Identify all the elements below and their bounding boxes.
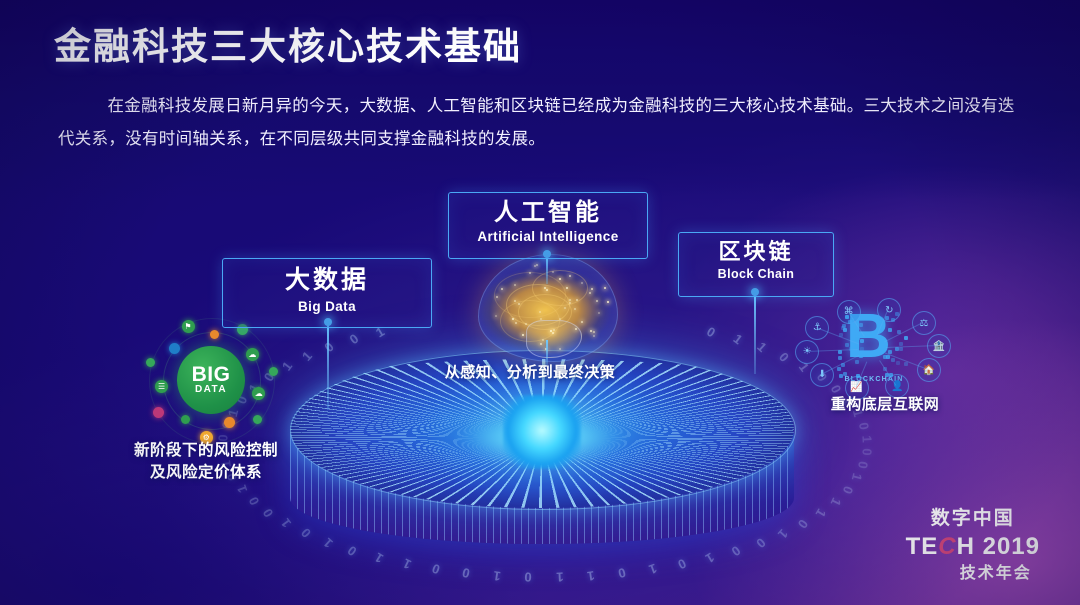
brain-spark [546,289,548,291]
blockchain-node-icon: ⬇ [810,363,834,387]
connector-blockchain [754,292,756,374]
brain-spark [536,264,538,266]
intro-paragraph: 在金融科技发展日新月异的今天，大数据、人工智能和区块链已经成为金融科技的三大核心… [58,90,1023,156]
big-data-graphic: BIG DATA ☁⚙☰⚑☁ [132,318,282,443]
blockchain-pixel [895,312,899,316]
logo-tech-c: C [938,533,956,560]
big-data-node-icon [210,330,219,339]
label-blockchain-en: Block Chain [679,267,833,281]
caption-big-data: 新阶段下的风险控制 及风险定价体系 [96,440,316,485]
brain-spark [501,288,503,290]
slide-canvas: 金融科技三大核心技术基础 在金融科技发展日新月异的今天，大数据、人工智能和区块链… [0,0,1080,605]
label-box-ai[interactable]: 人工智能 Artificial Intelligence [448,192,648,259]
blockchain-graphic: B BLOCKCHAIN ↻⚖🏦🏠👤📈⬇☀⚓⌘ [792,302,952,406]
page-title: 金融科技三大核心技术基础 [54,16,522,70]
blockchain-pixel [859,354,863,358]
blockchain-pixel [883,355,887,359]
blockchain-pixel [885,316,889,320]
big-data-node-icon [224,417,235,428]
blockchain-node-icon: 🏦 [927,334,951,358]
blockchain-pixel [843,372,847,376]
blockchain-pixel [904,362,908,366]
brain-spark [540,343,542,345]
blockchain-pixel [854,345,858,349]
blockchain-pixel [904,336,908,340]
big-data-node-icon: ☁ [246,348,259,361]
brain-spark [564,307,566,309]
label-ai-cn: 人工智能 [449,200,647,226]
blockchain-pixel [849,347,853,351]
blockchain-pixel [897,330,901,334]
big-data-node-icon [169,343,180,354]
blockchain-pixel [841,363,845,367]
blockchain-pixel [886,355,890,359]
blockchain-pixel [896,361,900,365]
blockchain-pixel [860,339,864,343]
blockchain-node-icon: 🏠 [917,358,941,382]
logo-cn-top: 数字中国 [906,503,1040,530]
label-box-blockchain[interactable]: 区块链 Block Chain [678,232,834,297]
blockchain-pixel [885,373,889,377]
blockchain-pixel [891,358,895,362]
logo-cn-bottom: 技术年会 [906,559,1040,583]
brain-spark [514,284,516,286]
big-data-node-icon [269,367,278,376]
brain-fold [532,270,588,306]
brain-spark [522,334,524,336]
caption-blockchain: 重构底层互联网 [790,394,980,416]
label-ai-en: Artificial Intelligence [449,229,647,244]
blockchain-pixel [850,320,854,324]
event-logo: 数字中国 TECH 2019 技术年会 [906,503,1040,583]
blockchain-pixel [839,374,843,378]
brain-spark [589,292,591,294]
blockchain-pixel [859,323,863,327]
brain-spark [590,330,592,332]
blockchain-pixel [838,350,842,354]
blockchain-node-icon: ⚖ [912,311,936,335]
logo-tech-post: H 2019 [957,533,1040,560]
blockchain-pixel [855,332,859,336]
brain-graphic [478,254,618,362]
blockchain-pixel [842,324,846,328]
blockchain-pixel [837,367,841,371]
blockchain-pixel [838,356,842,360]
big-data-node-icon: ⚑ [182,320,195,333]
blockchain-pixel [888,350,892,354]
brain-spark [539,311,541,313]
label-blockchain-cn: 区块链 [679,240,833,264]
blockchain-pixel [860,347,864,351]
blockchain-pixel [891,318,895,322]
blockchain-pixel [839,333,843,337]
label-big-data-en: Big Data [223,299,431,314]
blockchain-pixel [855,360,859,364]
caption-big-data-line2: 及风险定价体系 [96,462,316,484]
brain-spark [515,322,517,324]
brain-spark [569,302,571,304]
label-box-big-data[interactable]: 大数据 Big Data [222,258,432,328]
caption-big-data-line1: 新阶段下的风险控制 [96,440,316,462]
blockchain-pixel [845,315,849,319]
blockchain-pixel [856,374,860,378]
blockchain-pixel [899,347,903,351]
brain-spark [542,339,544,341]
big-data-node-icon [253,415,262,424]
blockchain-pixel [855,337,859,341]
brain-spark [569,275,571,277]
connector-big-data [327,322,329,410]
blockchain-pixel [899,342,903,346]
label-big-data-cn: 大数据 [223,267,431,295]
brain-spark [566,287,568,289]
brain-spark [496,296,498,298]
caption-ai: 从感知、分析到最终决策 [420,362,640,384]
brain-spark [593,335,595,337]
blockchain-pixel [881,320,885,324]
brain-fold [500,300,560,342]
blockchain-pixel [888,328,892,332]
brain-spark [518,303,520,305]
logo-tech-pre: TE [906,533,939,560]
logo-tech-2019: TECH 2019 [906,533,1040,561]
